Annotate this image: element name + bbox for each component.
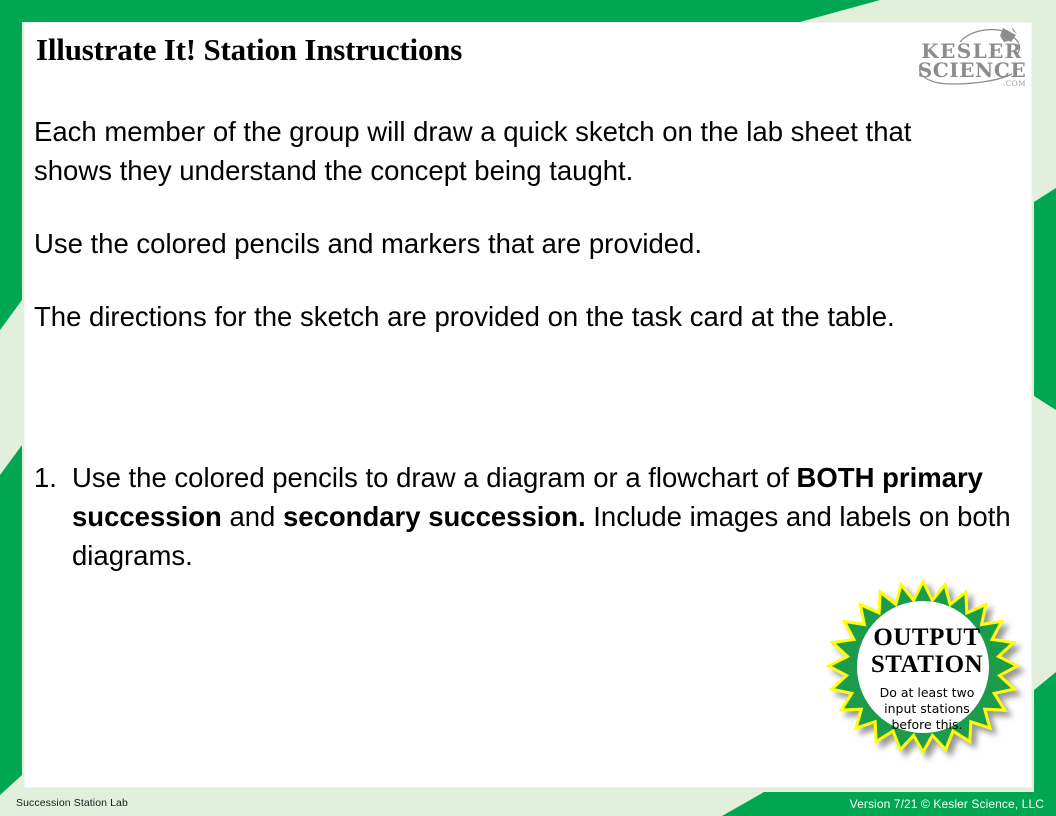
kesler-science-logo: KESLER SCIENCE .COM xyxy=(908,24,1036,88)
page-title: Illustrate It! Station Instructions xyxy=(36,32,462,68)
frame-left-green-upper xyxy=(0,0,22,330)
frame-left-green-lower xyxy=(0,445,22,795)
footer-lab-name: Succession Station Lab xyxy=(16,797,128,809)
instruction-paragraph: The directions for the sketch are provid… xyxy=(34,297,994,336)
logo-text-tld: .COM xyxy=(1003,80,1026,88)
footer-copyright: Version 7/21 © Kesler Science, LLC xyxy=(850,797,1044,811)
logo-text-line2: SCIENCE xyxy=(918,58,1027,82)
instruction-paragraph: Each member of the group will draw a qui… xyxy=(34,112,994,190)
instruction-paragraph: Use the colored pencils and markers that… xyxy=(34,224,994,263)
list-item-marker: 1. xyxy=(34,458,72,497)
frame-right-green-mid xyxy=(1034,188,1056,410)
numbered-task-list: 1. Use the colored pencils to draw a dia… xyxy=(34,458,1014,575)
instructions-body: Each member of the group will draw a qui… xyxy=(34,112,994,336)
list-item-text: Use the colored pencils to draw a diagra… xyxy=(72,458,1014,575)
list-item: 1. Use the colored pencils to draw a dia… xyxy=(34,458,1014,575)
slide-canvas: Illustrate It! Station Instructions KESL… xyxy=(0,0,1056,816)
output-station-badge: OUTPUT STATION Do at least two input sta… xyxy=(822,578,1032,778)
frame-top-green-band xyxy=(0,0,880,22)
badge-starburst xyxy=(833,586,1013,748)
